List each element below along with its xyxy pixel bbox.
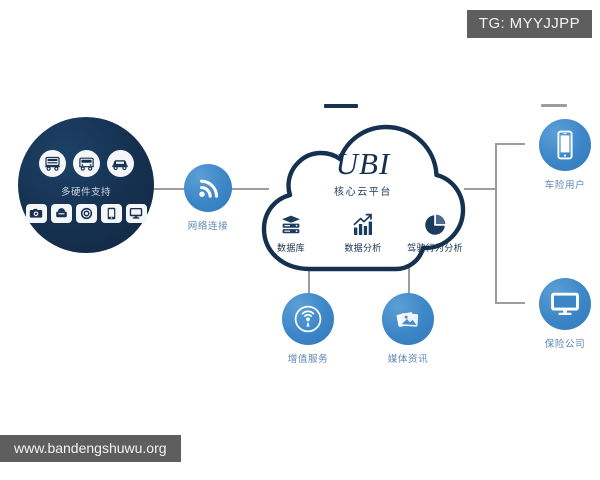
tg-tag-overlay: TG: MYYJJPP: [467, 10, 592, 38]
cloud-item-label: 数据库: [262, 241, 320, 254]
monitor-icon: [126, 204, 147, 223]
source-node-multi-hardware[interactable]: 多硬件支持: [18, 117, 154, 253]
vehicle-icon-row: [39, 150, 134, 177]
connector-bracket-spine: [495, 143, 497, 303]
bus-icon: [73, 150, 100, 177]
source-node-label: 多硬件支持: [61, 184, 111, 198]
photos-stack-icon: [382, 293, 434, 345]
cloud-item-list: 数据库 数据分析: [262, 211, 464, 254]
device-icon-row: [26, 204, 147, 223]
cloud-item-label: 驾驶行为分析: [406, 241, 464, 254]
cloud-item-label: 数据分析: [334, 241, 392, 254]
cloud-item-data-analysis[interactable]: 数据分析: [334, 211, 392, 254]
database-icon: [262, 211, 320, 237]
obd-box-icon: [51, 204, 72, 223]
cloud-title: UBI: [336, 148, 391, 179]
cloud-subtitle: 核心云平台: [334, 183, 392, 198]
truck-icon: [39, 150, 66, 177]
car-icon: [107, 150, 134, 177]
camera-icon: [26, 204, 47, 223]
service-node-media[interactable]: 媒体资讯: [363, 293, 453, 365]
cloud-platform[interactable]: UBI 核心云平台 数据库: [252, 104, 474, 274]
smartphone-icon: [539, 119, 591, 171]
bar-chart-growth-icon: [334, 211, 392, 237]
pie-chart-icon: [406, 211, 464, 237]
cloud-item-driving-behavior[interactable]: 驾驶行为分析: [406, 211, 464, 254]
link-node-network[interactable]: 网络连接: [163, 164, 253, 232]
disc-sensor-icon: [76, 204, 97, 223]
consumer-node-label: 保险公司: [520, 336, 600, 350]
service-node-value-added[interactable]: 增值服务: [263, 293, 353, 365]
service-node-label: 增值服务: [263, 351, 353, 365]
watermark-overlay: www.bandengshuwu.org: [0, 435, 181, 462]
link-node-label: 网络连接: [163, 218, 253, 232]
consumer-node-insurance-company[interactable]: 保险公司: [520, 278, 600, 350]
wifi-signal-icon: [184, 164, 232, 212]
broadcast-signal-icon: [282, 293, 334, 345]
consumer-node-insurance-user[interactable]: 车险用户: [520, 119, 600, 191]
cloud-item-database[interactable]: 数据库: [262, 211, 320, 254]
service-node-label: 媒体资讯: [363, 351, 453, 365]
consumer-node-label: 车险用户: [520, 177, 600, 191]
desktop-monitor-icon: [539, 278, 591, 330]
smartphone-icon: [101, 204, 122, 223]
diagram-canvas: 多硬件支持: [0, 0, 600, 480]
connector-right-top-stub: [541, 104, 567, 107]
